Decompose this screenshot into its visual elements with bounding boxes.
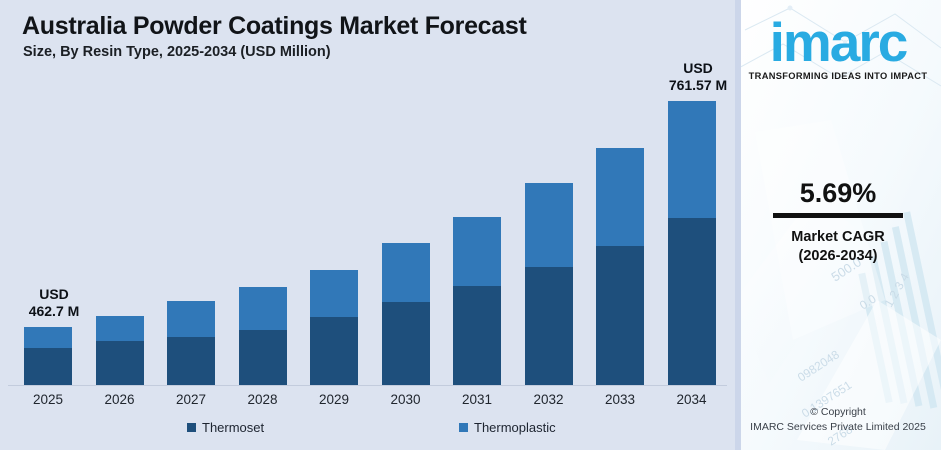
bar-group-2032[interactable] [525, 183, 573, 385]
legend-item-thermoset[interactable]: Thermoset [187, 420, 264, 435]
copyright-notice: © Copyright IMARC Services Private Limit… [735, 405, 941, 435]
callout-first-value: USD 462.7 M [6, 286, 102, 320]
bar-segment-thermoplastic-2033[interactable] [596, 148, 644, 246]
x-axis-label-2028: 2028 [233, 392, 293, 407]
page-subtitle: Size, By Resin Type, 2025-2034 (USD Mill… [23, 44, 331, 60]
bar-group-2027[interactable] [167, 301, 215, 385]
brand-panel: 500.0 0.0 1 2 3 4 0982048 0.1397651 2768… [735, 0, 941, 450]
legend-label-thermoset: Thermoset [202, 420, 264, 435]
bar-segment-thermoset-2025[interactable] [24, 348, 72, 385]
bar-group-2031[interactable] [453, 217, 501, 385]
legend-swatch-thermoplastic [459, 423, 468, 432]
legend-label-thermoplastic: Thermoplastic [474, 420, 556, 435]
x-axis-line [8, 385, 727, 386]
chart-legend: Thermoset Thermoplastic [0, 420, 735, 446]
bar-group-2033[interactable] [596, 148, 644, 385]
bar-segment-thermoplastic-2029[interactable] [310, 270, 358, 317]
legend-item-thermoplastic[interactable]: Thermoplastic [459, 420, 556, 435]
copyright-line2: IMARC Services Private Limited 2025 [735, 420, 941, 435]
x-axis-label-2030: 2030 [376, 392, 436, 407]
x-axis-label-2033: 2033 [590, 392, 650, 407]
cagr-label: Market CAGR [735, 226, 941, 249]
legend-swatch-thermoset [187, 423, 196, 432]
bar-segment-thermoplastic-2034[interactable] [668, 101, 716, 218]
bar-segment-thermoset-2028[interactable] [239, 330, 287, 385]
x-axis-label-2032: 2032 [519, 392, 579, 407]
bar-segment-thermoplastic-2032[interactable] [525, 183, 573, 267]
logo-wordmark: imarc [770, 14, 907, 70]
bar-group-2026[interactable] [96, 316, 144, 385]
bar-group-2034[interactable] [668, 101, 716, 385]
bar-segment-thermoset-2033[interactable] [596, 246, 644, 385]
callout-first-line2: 462.7 M [6, 303, 102, 320]
bar-segment-thermoplastic-2028[interactable] [239, 287, 287, 330]
chart-panel: Australia Powder Coatings Market Forecas… [0, 0, 735, 450]
x-axis-label-2027: 2027 [161, 392, 221, 407]
x-axis-label-2025: 2025 [18, 392, 78, 407]
bar-group-2029[interactable] [310, 270, 358, 385]
x-axis-label-2026: 2026 [90, 392, 150, 407]
page-title: Australia Powder Coatings Market Forecas… [22, 12, 527, 41]
bar-group-2028[interactable] [239, 287, 287, 385]
callout-first-line1: USD [6, 286, 102, 303]
bar-segment-thermoset-2030[interactable] [382, 302, 430, 385]
bar-segment-thermoset-2029[interactable] [310, 317, 358, 385]
bar-segment-thermoplastic-2026[interactable] [96, 316, 144, 341]
imarc-logo: imarc TRANSFORMING IDEAS INTO IMPACT [735, 14, 941, 81]
chart-screenshot: Australia Powder Coatings Market Forecas… [0, 0, 941, 450]
bar-segment-thermoset-2034[interactable] [668, 218, 716, 385]
bar-segment-thermoplastic-2031[interactable] [453, 217, 501, 286]
bar-group-2025[interactable] [24, 327, 72, 385]
cagr-divider [773, 213, 903, 218]
bar-segment-thermoset-2032[interactable] [525, 267, 573, 385]
bar-segment-thermoset-2026[interactable] [96, 341, 144, 385]
bar-segment-thermoset-2027[interactable] [167, 337, 215, 385]
bar-segment-thermoplastic-2025[interactable] [24, 327, 72, 348]
bar-group-2030[interactable] [382, 243, 430, 385]
bar-segment-thermoplastic-2030[interactable] [382, 243, 430, 302]
cagr-value: 5.69% [735, 178, 941, 209]
x-axis-label-2029: 2029 [304, 392, 364, 407]
bar-segment-thermoset-2031[interactable] [453, 286, 501, 385]
copyright-line1: © Copyright [735, 405, 941, 420]
x-axis-label-2034: 2034 [662, 392, 722, 407]
x-axis-label-2031: 2031 [447, 392, 507, 407]
cagr-period: (2026-2034) [735, 248, 941, 264]
bar-segment-thermoplastic-2027[interactable] [167, 301, 215, 337]
